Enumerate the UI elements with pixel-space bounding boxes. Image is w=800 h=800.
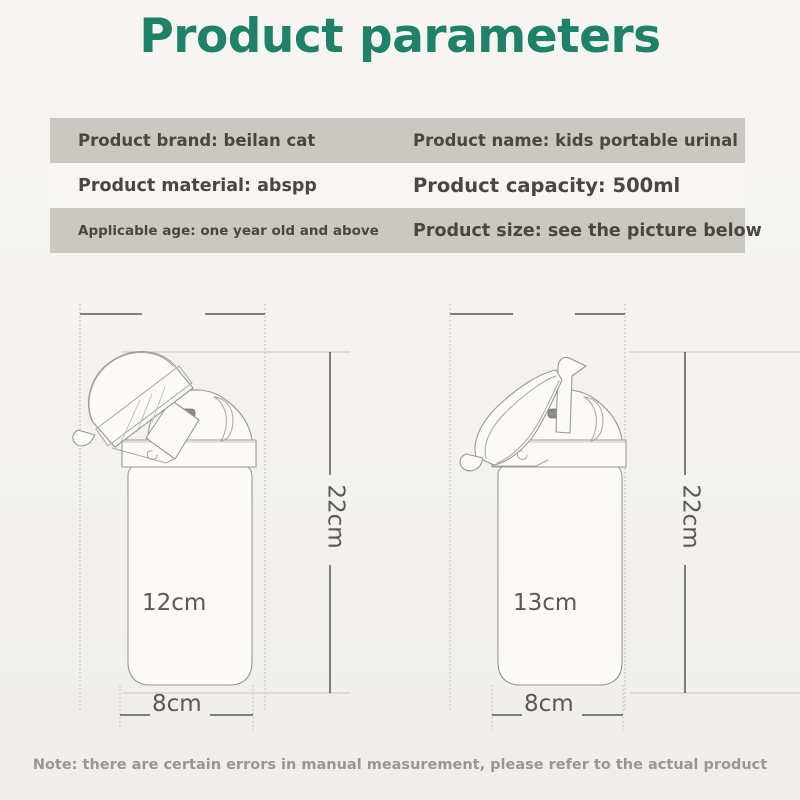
dim-right-width-label: 13cm [513,592,577,615]
dim-right-base-label: 8cm [524,693,574,716]
spec-size-value: Product size: see the picture below [413,221,762,241]
page-title: Product parameters [0,8,800,67]
product-dimension-diagrams: .outline { fill:#fbfaf7; stroke:#9a9892;… [0,290,800,740]
spec-table: Product brand: beilan cat Product name: … [50,118,745,253]
dim-left-width-label: 12cm [142,592,206,615]
dim-left-height-label: 22cm [324,484,347,548]
measurement-note: Note: there are certain errors in manual… [0,757,800,773]
diagram-left [73,304,350,730]
spec-row-age: Applicable age: one year old and above P… [50,208,745,253]
spec-name-value: Product name: kids portable urinal [413,131,738,150]
spec-row-material: Product material: abspp Product capacity… [50,163,745,208]
dim-left-base-label: 8cm [152,693,202,716]
page-root: Product parameters Product brand: beilan… [0,0,800,800]
spec-brand-value: Product brand: beilan cat [78,131,315,150]
spec-row-brand: Product brand: beilan cat Product name: … [50,118,745,163]
spec-material-value: Product material: abspp [78,176,317,196]
spec-age-value: Applicable age: one year old and above [78,223,379,239]
spec-capacity-value: Product capacity: 500ml [413,174,680,197]
dim-right-height-label: 22cm [679,484,702,548]
diagram-right [450,304,800,730]
